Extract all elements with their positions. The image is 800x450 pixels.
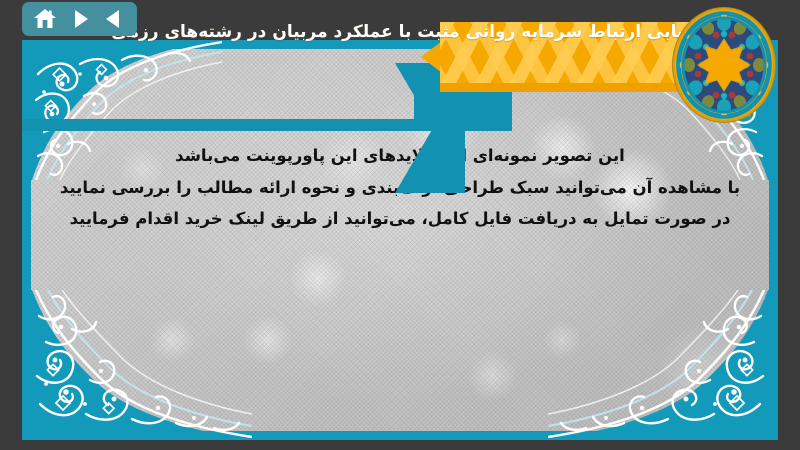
slide-border-left: [22, 40, 31, 440]
triangle-right-icon[interactable]: [67, 7, 93, 31]
slide-canvas: این تصویر نمونه‌ای از اسلایدهای این پاور…: [22, 40, 778, 440]
slide-background: [22, 40, 778, 440]
body-line: با مشاهده آن می‌توانید سبک طراحی، رنگ‌بن…: [52, 172, 748, 204]
slide-body-text: این تصویر نمونه‌ای از اسلایدهای این پاور…: [52, 140, 748, 235]
body-line: این تصویر نمونه‌ای از اسلایدهای این پاور…: [52, 140, 748, 172]
slide-border-bottom: [22, 431, 778, 440]
slide-border-right: [769, 40, 778, 440]
home-icon[interactable]: [32, 7, 58, 31]
slide-border-top: [22, 40, 778, 49]
body-line: در صورت تمایل به دریافت فایل کامل، می‌تو…: [52, 203, 748, 235]
slide-navigation-bar: [22, 2, 137, 36]
slide-viewer: این تصویر نمونه‌ای از اسلایدهای این پاور…: [0, 0, 800, 450]
triangle-left-icon[interactable]: [101, 7, 127, 31]
